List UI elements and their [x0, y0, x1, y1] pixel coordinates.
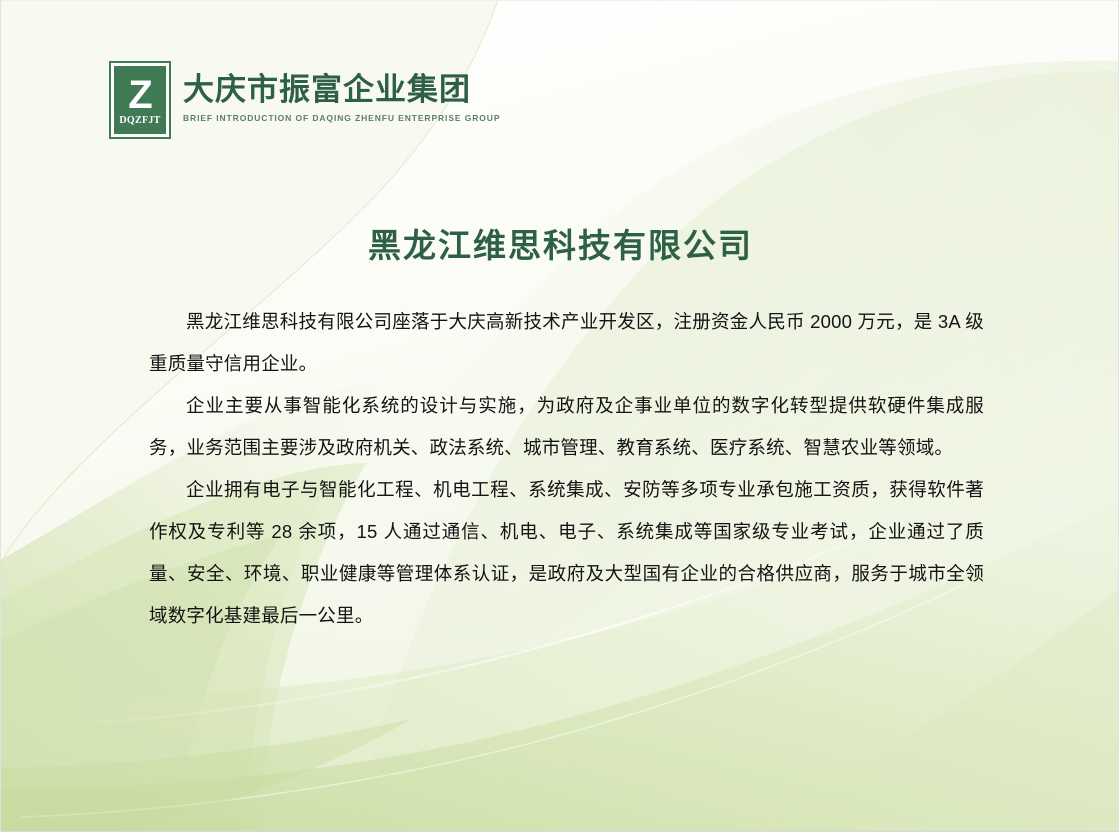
logo-letter-z: Z: [128, 76, 151, 114]
paragraph: 黑龙江维思科技有限公司座落于大庆高新技术产业开发区，注册资金人民币 2000 万…: [149, 301, 984, 385]
paragraph: 企业主要从事智能化系统的设计与实施，为政府及企事业单位的数字化转型提供软硬件集成…: [149, 385, 984, 469]
logo-mark-inner: Z DQZFJT: [114, 66, 166, 134]
body-copy: 黑龙江维思科技有限公司座落于大庆高新技术产业开发区，注册资金人民币 2000 万…: [149, 301, 984, 637]
brand-tagline-english: BRIEF INTRODUCTION OF DAQING ZHENFU ENTE…: [183, 113, 500, 123]
paragraph: 企业拥有电子与智能化工程、机电工程、系统集成、安防等多项专业承包施工资质，获得软…: [149, 469, 984, 637]
company-logo-block: Z DQZFJT 大庆市振富企业集团 BRIEF INTRODUCTION OF…: [109, 61, 500, 139]
slide-canvas: Z DQZFJT 大庆市振富企业集团 BRIEF INTRODUCTION OF…: [0, 0, 1119, 832]
logo-abbreviation: DQZFJT: [119, 115, 160, 126]
logo-mark-icon: Z DQZFJT: [109, 61, 171, 139]
brand-name-chinese: 大庆市振富企业集团: [183, 74, 500, 107]
logo-text-group: 大庆市振富企业集团 BRIEF INTRODUCTION OF DAQING Z…: [183, 61, 500, 123]
page-title: 黑龙江维思科技有限公司: [1, 219, 1119, 267]
